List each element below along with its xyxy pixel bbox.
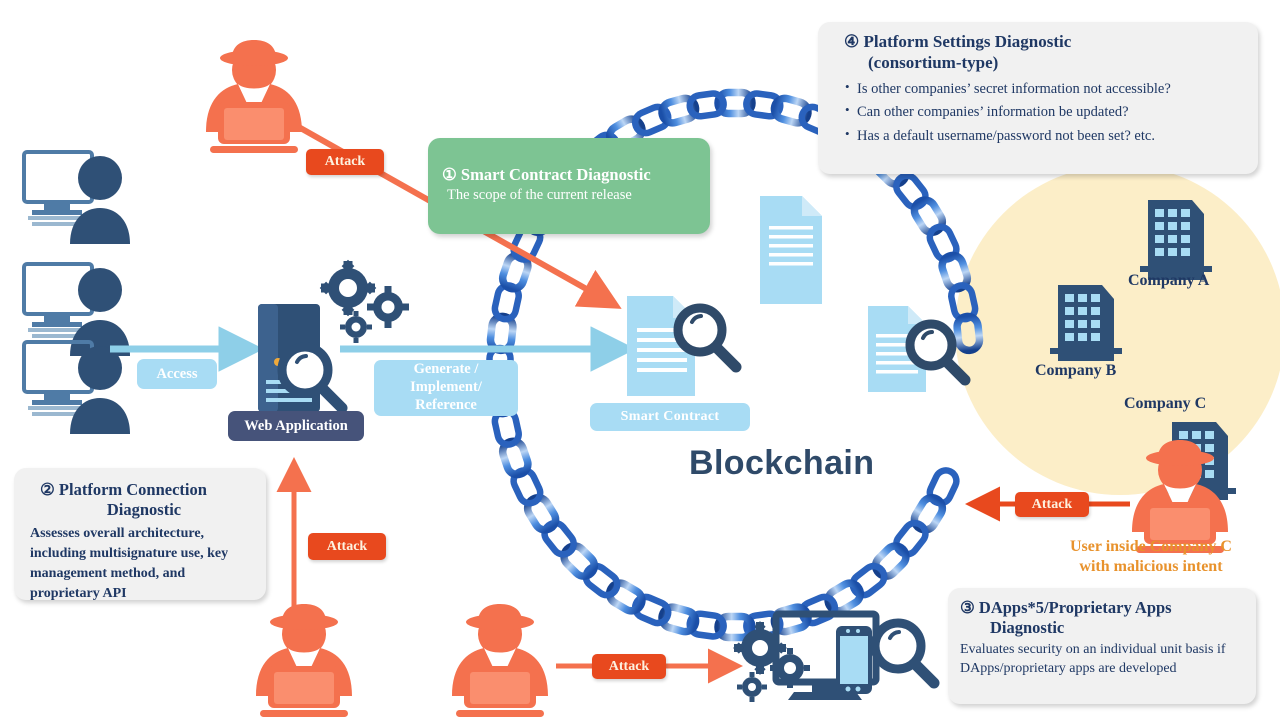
company-b-label: Company B (1035, 362, 1116, 380)
smart-contract-label: Smart Contract (590, 403, 750, 431)
web-application-label: Web Application (228, 411, 364, 441)
label-line1: Generate / (414, 361, 479, 379)
callout-number: ② (40, 480, 55, 499)
dapps-devices-icon (733, 614, 934, 702)
company-b-building-icon (1050, 285, 1122, 361)
attack-badge-bottom-left: Attack (308, 533, 386, 560)
gears-icon (320, 260, 409, 343)
company-a-label: Company A (1128, 272, 1209, 290)
attack-badge-top-left: Attack (306, 149, 384, 175)
malicious-line2: with malicious intent (1079, 558, 1222, 575)
callout-number: ① (442, 165, 457, 184)
callout-title: ② Platform Connection Diagnostic (14, 468, 266, 520)
callout-title-text: Smart Contract Diagnostic (461, 165, 651, 184)
callout-dapps: ③ DApps*5/Proprietary Apps Diagnostic Ev… (948, 588, 1256, 704)
blockchain-title: Blockchain (689, 444, 874, 483)
callout-title-line2: (consortium-type) (844, 53, 1258, 74)
list-item: Has a default username/password not been… (844, 126, 1258, 147)
callout-title-line1: Platform Connection (59, 480, 207, 499)
callout-title: ① Smart Contract Diagnostic (428, 138, 710, 185)
callout-title-line1: Platform Settings Diagnostic (864, 32, 1072, 51)
callout-number: ④ (844, 32, 859, 51)
company-a-building-icon (1140, 200, 1212, 280)
hacker-icon (206, 40, 302, 153)
hacker-icon (256, 604, 352, 717)
callout-bullet-list: Is other companies’ secret information n… (844, 79, 1258, 146)
user-workstation-icon (24, 152, 130, 244)
callout-title: ④ Platform Settings Diagnostic (consorti… (818, 22, 1258, 73)
attack-badge-right: Attack (1015, 492, 1089, 517)
callout-number: ③ (960, 598, 975, 617)
consortium-highlight-circle (955, 165, 1280, 495)
hacker-icon (452, 604, 548, 717)
callout-platform-connection: ② Platform Connection Diagnostic Assesse… (14, 468, 266, 600)
document-icon (760, 196, 822, 304)
access-label: Access (137, 359, 217, 389)
generate-implement-reference-label: Generate / Implement/ Reference (374, 360, 518, 416)
diagram-canvas: ④ Platform Settings Diagnostic (consorti… (0, 0, 1280, 720)
callout-title-line2: Diagnostic (40, 500, 266, 520)
callout-subtitle: The scope of the current release (428, 185, 710, 204)
callout-title-line2: Diagnostic (960, 618, 1256, 638)
callout-body: Evaluates security on an individual unit… (948, 638, 1256, 679)
company-c-label: Company C (1124, 395, 1206, 413)
callout-platform-settings: ④ Platform Settings Diagnostic (consorti… (818, 22, 1258, 174)
list-item: Is other companies’ secret information n… (844, 79, 1258, 100)
malicious-user-label: User inside Company C with malicious int… (1070, 537, 1232, 578)
label-line3: Reference (415, 397, 477, 415)
malicious-line1: User inside Company C (1070, 538, 1232, 555)
list-item: Can other companies’ information be upda… (844, 102, 1258, 123)
label-line2: Implement/ (410, 379, 482, 397)
callout-title: ③ DApps*5/Proprietary Apps Diagnostic (948, 588, 1256, 638)
callout-title-line1: DApps*5/Proprietary Apps (979, 598, 1172, 617)
callout-smart-contract: ① Smart Contract Diagnostic The scope of… (428, 138, 710, 234)
attack-badge-bottom-center: Attack (592, 654, 666, 679)
callout-body: Assesses overall architecture, including… (14, 520, 266, 604)
